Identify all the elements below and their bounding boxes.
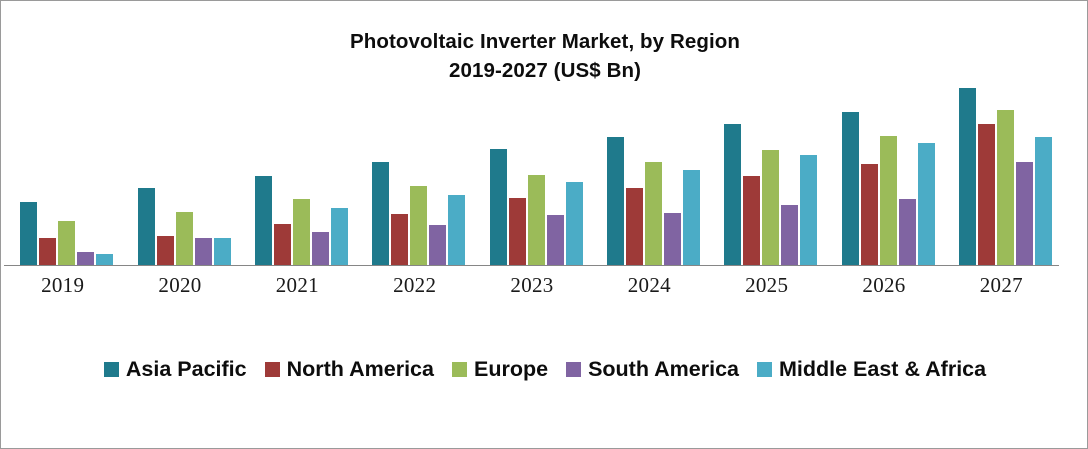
legend-swatch-icon bbox=[757, 362, 772, 377]
bar-2026-europe bbox=[880, 136, 897, 266]
bar-group-2023 bbox=[490, 76, 583, 266]
bar-2025-asia-pacific bbox=[724, 124, 741, 266]
bar-group-2026 bbox=[842, 76, 935, 266]
legend-item-asia-pacific[interactable]: Asia Pacific bbox=[104, 359, 247, 381]
bar-2026-middle-east-africa bbox=[918, 143, 935, 266]
x-tick-label-2022: 2022 bbox=[356, 273, 473, 298]
bar-group-2025 bbox=[724, 76, 817, 266]
bar-2022-asia-pacific bbox=[372, 162, 389, 266]
bar-2019-europe bbox=[58, 221, 75, 266]
bar-2022-south-america bbox=[429, 225, 446, 266]
bar-2020-north-america bbox=[157, 236, 174, 266]
bar-2021-south-america bbox=[312, 232, 329, 266]
x-tick-label-2026: 2026 bbox=[825, 273, 942, 298]
legend-swatch-icon bbox=[452, 362, 467, 377]
x-axis-line bbox=[4, 265, 1059, 266]
bar-2024-south-america bbox=[664, 213, 681, 266]
bar-2023-north-america bbox=[509, 198, 526, 266]
bar-2027-north-america bbox=[978, 124, 995, 266]
legend-label: Middle East & Africa bbox=[779, 359, 986, 381]
chart-title-line-1: Photovoltaic Inverter Market, by Region bbox=[1, 27, 1088, 56]
bar-2019-south-america bbox=[77, 252, 94, 266]
chart-legend: Asia PacificNorth AmericaEuropeSouth Ame… bbox=[1, 359, 1088, 381]
legend-item-europe[interactable]: Europe bbox=[452, 359, 548, 381]
bar-2027-middle-east-africa bbox=[1035, 137, 1052, 266]
bar-2024-north-america bbox=[626, 188, 643, 266]
bar-2021-middle-east-africa bbox=[331, 208, 348, 266]
bar-2021-asia-pacific bbox=[255, 176, 272, 266]
bar-group-2027 bbox=[959, 76, 1052, 266]
legend-label: Asia Pacific bbox=[126, 359, 247, 381]
legend-swatch-icon bbox=[104, 362, 119, 377]
bar-group-2020 bbox=[138, 76, 231, 266]
legend-label: South America bbox=[588, 359, 739, 381]
x-tick-label-2020: 2020 bbox=[121, 273, 238, 298]
bar-group-2022 bbox=[372, 76, 465, 266]
bar-2024-asia-pacific bbox=[607, 137, 624, 266]
photovoltaic-inverter-market-chart: Photovoltaic Inverter Market, by Region … bbox=[0, 0, 1088, 449]
bar-2026-north-america bbox=[861, 164, 878, 266]
bar-2026-south-america bbox=[899, 199, 916, 266]
x-tick-label-2021: 2021 bbox=[239, 273, 356, 298]
bar-2023-south-america bbox=[547, 215, 564, 266]
bar-group-2021 bbox=[255, 76, 348, 266]
bar-2021-europe bbox=[293, 199, 310, 266]
bar-2020-middle-east-africa bbox=[214, 238, 231, 266]
bar-2025-south-america bbox=[781, 205, 798, 266]
bar-2019-north-america bbox=[39, 238, 56, 266]
bar-group-2024 bbox=[607, 76, 700, 266]
legend-swatch-icon bbox=[566, 362, 581, 377]
legend-swatch-icon bbox=[265, 362, 280, 377]
bar-2021-north-america bbox=[274, 224, 291, 266]
x-tick-label-2025: 2025 bbox=[708, 273, 825, 298]
x-tick-label-2023: 2023 bbox=[473, 273, 590, 298]
bar-2024-middle-east-africa bbox=[683, 170, 700, 266]
bar-2026-asia-pacific bbox=[842, 112, 859, 266]
bar-2025-europe bbox=[762, 150, 779, 266]
plot-area bbox=[4, 76, 1060, 266]
x-axis-tick-labels: 201920202021202220232024202520262027 bbox=[4, 273, 1060, 307]
bar-2025-middle-east-africa bbox=[800, 155, 817, 266]
bar-2027-europe bbox=[997, 110, 1014, 266]
bar-2020-south-america bbox=[195, 238, 212, 266]
bar-2019-asia-pacific bbox=[20, 202, 37, 266]
bar-2025-north-america bbox=[743, 176, 760, 266]
bar-2023-europe bbox=[528, 175, 545, 266]
x-tick-label-2024: 2024 bbox=[591, 273, 708, 298]
bar-group-2019 bbox=[20, 76, 113, 266]
x-tick-label-2027: 2027 bbox=[943, 273, 1060, 298]
legend-item-south-america[interactable]: South America bbox=[566, 359, 739, 381]
bar-2020-europe bbox=[176, 212, 193, 266]
legend-label: Europe bbox=[474, 359, 548, 381]
bar-2023-middle-east-africa bbox=[566, 182, 583, 266]
legend-item-middle-east-africa[interactable]: Middle East & Africa bbox=[757, 359, 986, 381]
bar-2020-asia-pacific bbox=[138, 188, 155, 266]
legend-item-north-america[interactable]: North America bbox=[265, 359, 434, 381]
bar-2022-europe bbox=[410, 186, 427, 266]
bar-2022-north-america bbox=[391, 214, 408, 266]
legend-label: North America bbox=[287, 359, 434, 381]
bar-2022-middle-east-africa bbox=[448, 195, 465, 266]
x-tick-label-2019: 2019 bbox=[4, 273, 121, 298]
bar-2024-europe bbox=[645, 162, 662, 266]
bar-2027-south-america bbox=[1016, 162, 1033, 266]
bar-2023-asia-pacific bbox=[490, 149, 507, 266]
bar-2027-asia-pacific bbox=[959, 88, 976, 266]
